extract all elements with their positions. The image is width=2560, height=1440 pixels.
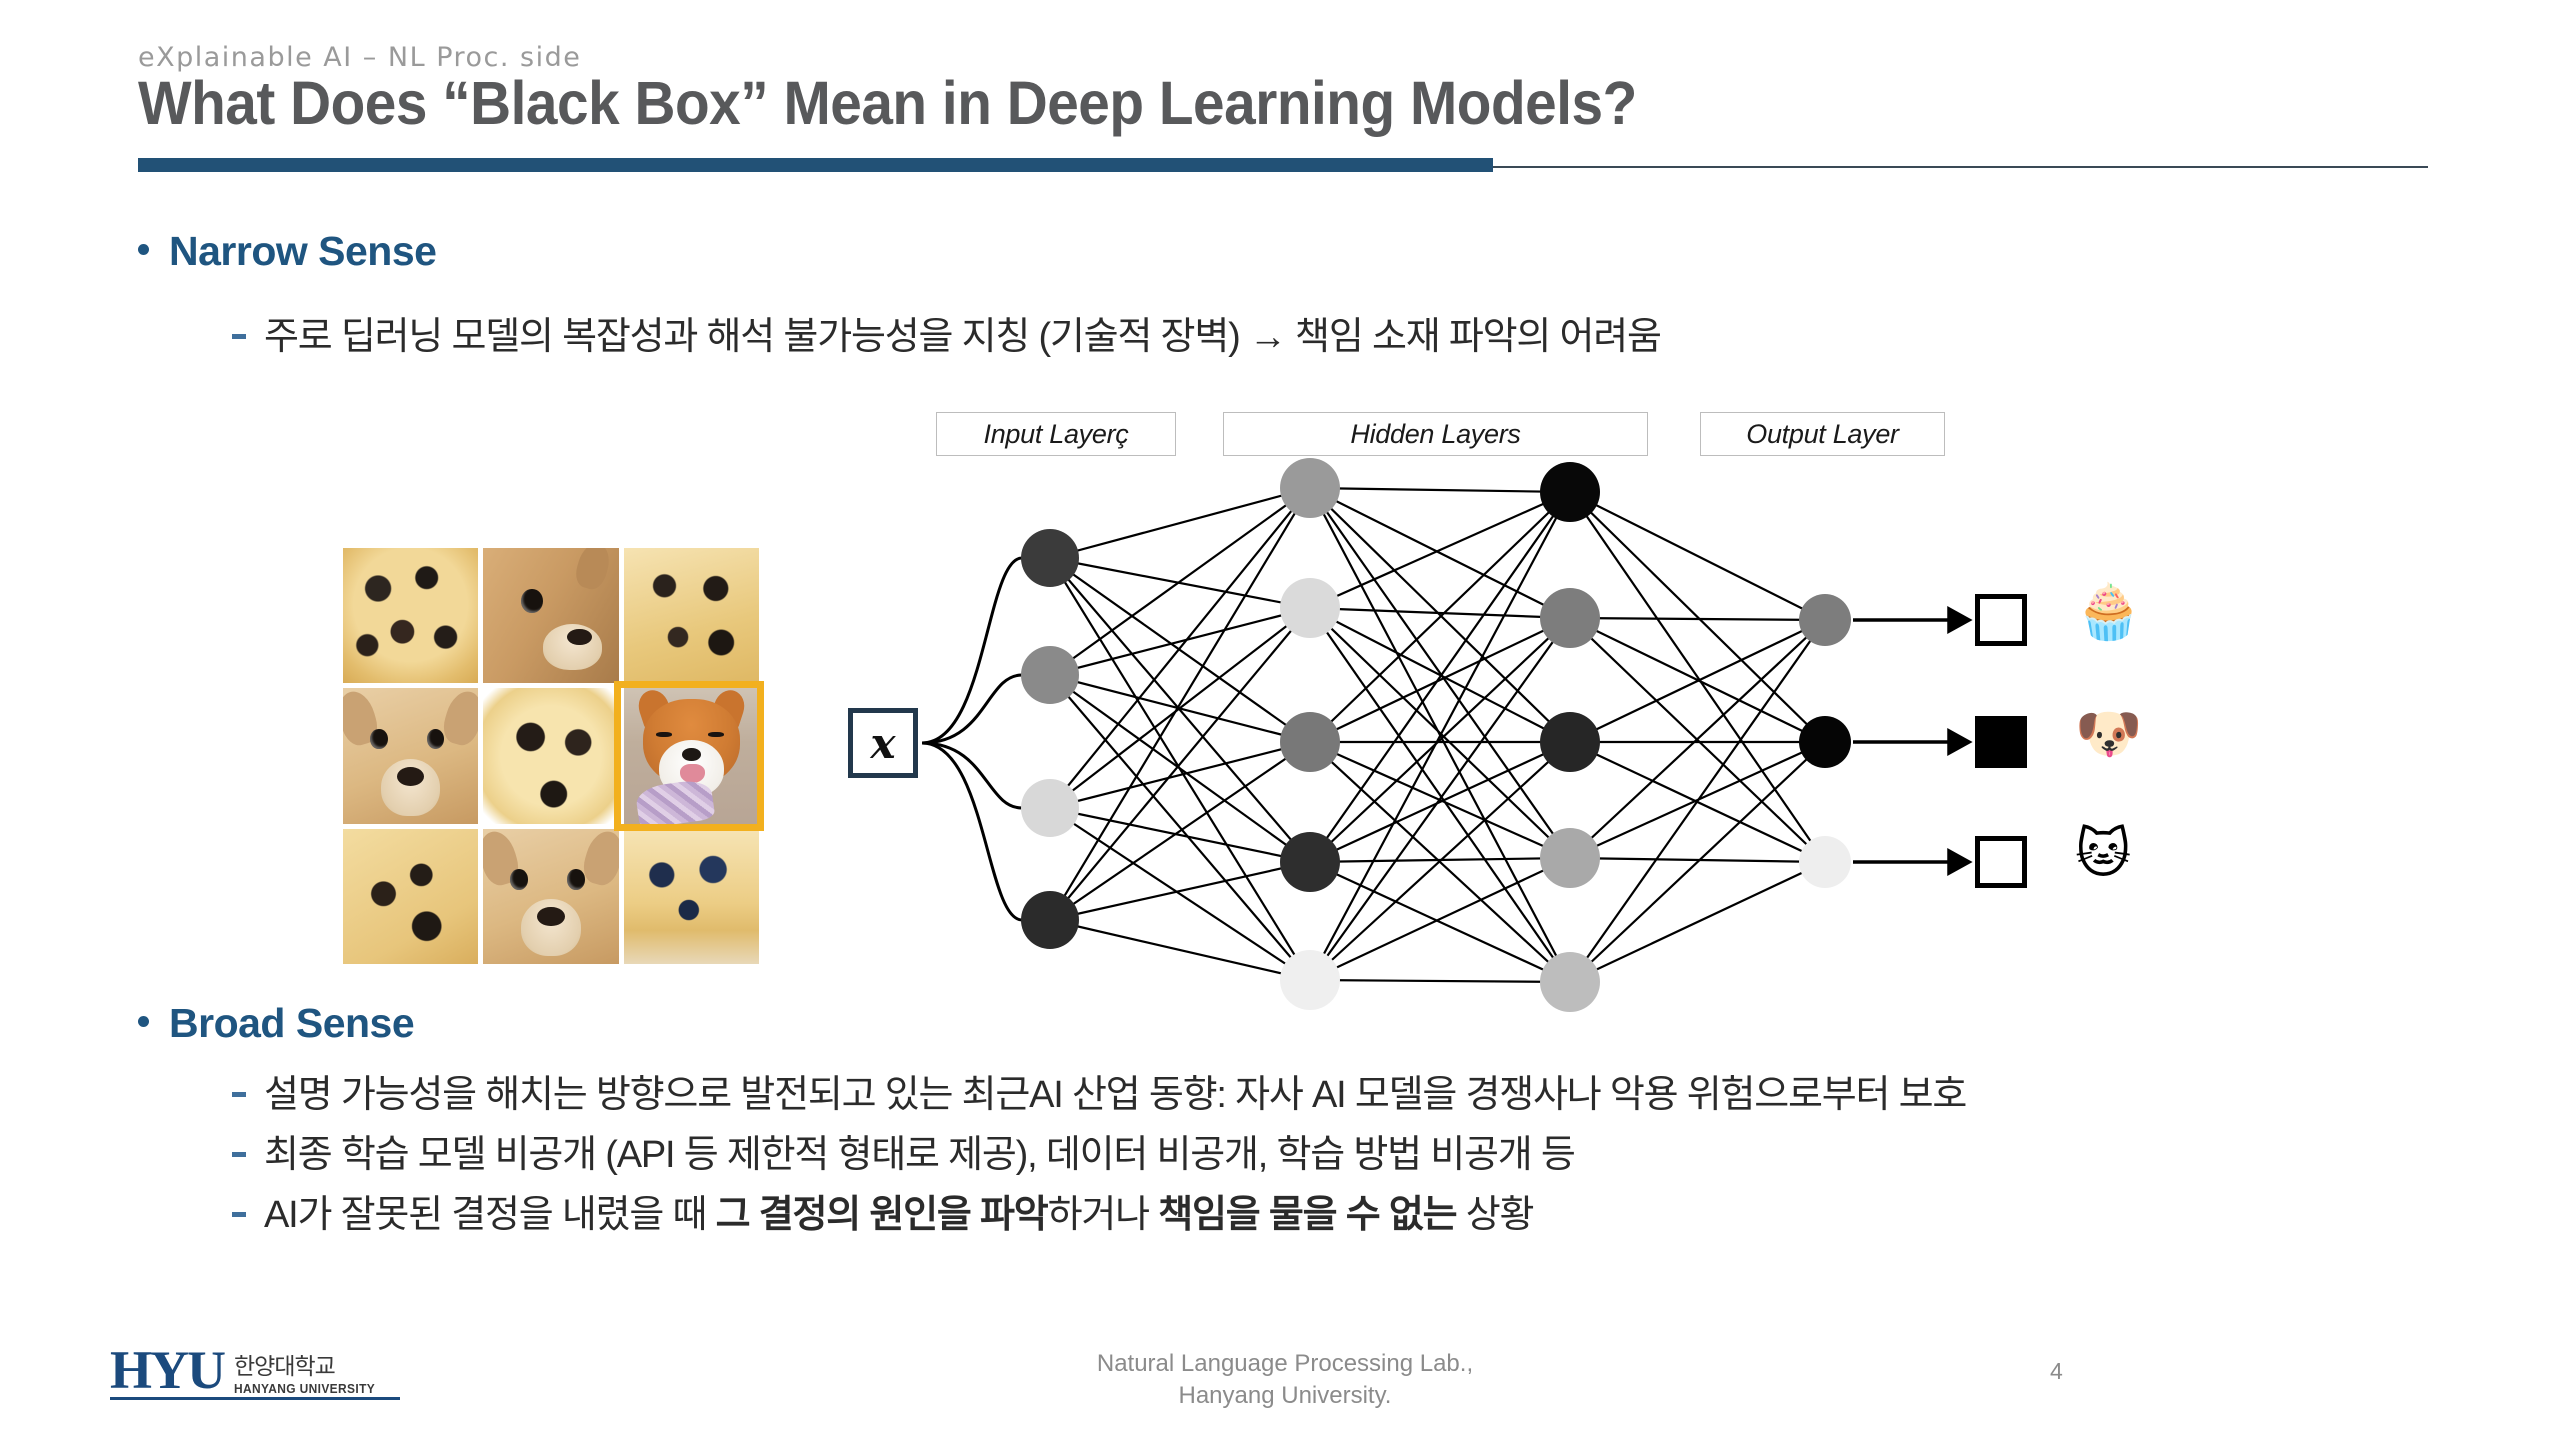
- sub-bullet-text: 설명 가능성을 해치는 방향으로 발전되고 있는 최근AI 산업 동향: 자사 …: [264, 1063, 1966, 1118]
- plain-text: AI가 잘못된 결정을 내렸을 때: [264, 1194, 716, 1236]
- dash-icon: [232, 1092, 246, 1097]
- grid-cell-muffin-4: [343, 829, 478, 964]
- network-node: [1799, 716, 1851, 768]
- network-node: [1280, 712, 1340, 772]
- output-square-cat: [1975, 836, 2027, 888]
- title-rule-accent: [138, 158, 1493, 172]
- sub-bullet-broad-3: AI가 잘못된 결정을 내렸을 때 그 결정의 원인을 파악하거나 책임을 물을…: [232, 1183, 1533, 1238]
- sub-bullet-text: 주로 딥러닝 모델의 복잡성과 해석 불가능성을 지칭 (기술적 장벽) → 책…: [264, 305, 1661, 360]
- logo-underline: [110, 1397, 400, 1400]
- grid-cell-shiba-highlighted: [624, 688, 759, 823]
- output-square-cupcake: [1975, 594, 2027, 646]
- sub-bullet-text: 최종 학습 모델 비공개 (API 등 제한적 형태로 제공), 데이터 비공개…: [264, 1123, 1575, 1178]
- dog-face-emoji: 🐶: [2075, 707, 2142, 761]
- input-layer-label: Input Layerç: [936, 412, 1176, 456]
- network-node: [1021, 779, 1079, 837]
- dash-icon: [232, 1152, 246, 1157]
- grid-cell-muffin-1: [343, 548, 478, 683]
- logo-english-name: HANYANG UNIVERSITY: [234, 1381, 375, 1396]
- grid-cell-chihuahua-front: [343, 688, 478, 823]
- footer-line-2: Hanyang University.: [1050, 1380, 1520, 1412]
- page-title: What Does “Black Box” Mean in Deep Learn…: [138, 68, 1637, 138]
- plain-text: 설명 가능성을 해치는 방향으로 발전되고 있는 최근AI 산업 동향: 자사 …: [264, 1074, 1966, 1116]
- network-node: [1021, 891, 1079, 949]
- sub-bullet-broad-1: 설명 가능성을 해치는 방향으로 발전되고 있는 최근AI 산업 동향: 자사 …: [232, 1063, 1966, 1118]
- logo-mark: HYU: [110, 1345, 224, 1396]
- emphasis-text: 그 결정의 원인을 파악: [716, 1194, 1048, 1236]
- plain-text: 책임 소재 파악의 어려움: [1286, 316, 1661, 358]
- bullet-dot-icon: [138, 1016, 149, 1027]
- network-node: [1540, 828, 1600, 888]
- network-node: [1280, 578, 1340, 638]
- bullet-broad-sense: Broad Sense: [138, 1000, 414, 1047]
- sub-bullet-narrow-1: 주로 딥러닝 모델의 복잡성과 해석 불가능성을 지칭 (기술적 장벽) → 책…: [232, 305, 1661, 360]
- bullet-label: Narrow Sense: [169, 228, 436, 275]
- plain-text: 주로 딥러닝 모델의 복잡성과 해석 불가능성을 지칭 (기술적 장벽): [264, 316, 1249, 358]
- bullet-label: Broad Sense: [169, 1000, 414, 1047]
- logo-korean-name: 한양대학교: [234, 1354, 387, 1381]
- plain-text: 상황: [1456, 1194, 1533, 1236]
- grid-cell-chihuahua-side: [483, 548, 618, 683]
- network-node: [1021, 646, 1079, 704]
- cupcake-emoji: 🧁: [2075, 585, 2142, 639]
- cat-face-emoji: 🐱: [2075, 827, 2131, 881]
- network-node: [1540, 952, 1600, 1012]
- plain-text: 최종 학습 모델 비공개 (API 등 제한적 형태로 제공), 데이터 비공개…: [264, 1134, 1575, 1176]
- plain-text: →: [1249, 316, 1286, 358]
- network-node: [1280, 950, 1340, 1010]
- sub-bullet-text: AI가 잘못된 결정을 내렸을 때 그 결정의 원인을 파악하거나 책임을 물을…: [264, 1183, 1533, 1238]
- bullet-narrow-sense: Narrow Sense: [138, 228, 436, 275]
- network-node: [1799, 594, 1851, 646]
- network-node: [1799, 836, 1851, 888]
- sub-bullet-broad-2: 최종 학습 모델 비공개 (API 등 제한적 형태로 제공), 데이터 비공개…: [232, 1123, 1575, 1178]
- bullet-dot-icon: [138, 244, 149, 255]
- footer-affiliation: Natural Language Processing Lab., Hanyan…: [1050, 1348, 1520, 1413]
- grid-cell-muffin-blueberry: [624, 829, 759, 964]
- plain-text: 하거나: [1048, 1194, 1159, 1236]
- grid-cell-muffin-3: [483, 688, 618, 823]
- muffin-chihuahua-image-grid: [343, 548, 759, 964]
- dash-icon: [232, 1212, 246, 1217]
- grid-cell-shiba-2: [483, 829, 618, 964]
- emphasis-text: 책임을 물을 수 없는: [1158, 1194, 1456, 1236]
- grid-cell-muffin-2: [624, 548, 759, 683]
- network-node: [1021, 529, 1079, 587]
- network-node: [1280, 458, 1340, 518]
- network-node: [1280, 832, 1340, 892]
- page-number: 4: [2050, 1358, 2063, 1385]
- output-square-dog: [1975, 716, 2027, 768]
- output-layer-label: Output Layer: [1700, 412, 1945, 456]
- network-node: [1540, 712, 1600, 772]
- footer-line-1: Natural Language Processing Lab.,: [1050, 1348, 1520, 1380]
- input-x-box: x: [848, 708, 918, 778]
- network-node: [1540, 588, 1600, 648]
- dash-icon: [232, 334, 246, 339]
- hyu-logo: HYU 한양대학교 HANYANG UNIVERSITY: [110, 1345, 387, 1396]
- network-node: [1540, 462, 1600, 522]
- hidden-layers-label: Hidden Layers: [1223, 412, 1648, 456]
